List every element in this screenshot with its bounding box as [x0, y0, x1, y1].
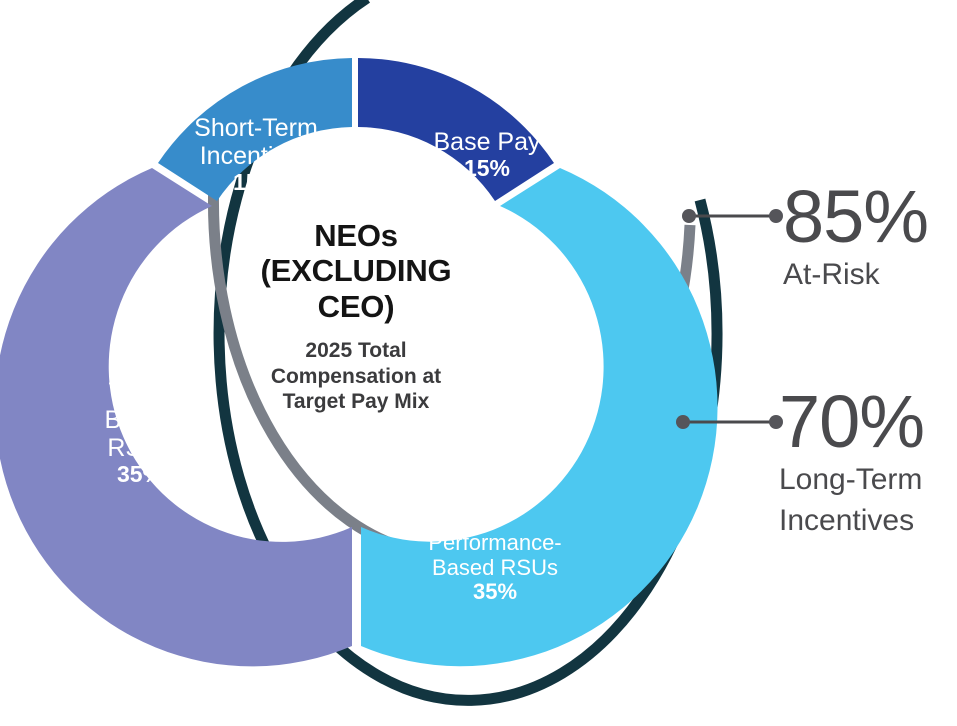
- slice-performance-rsus[interactable]: [361, 168, 718, 666]
- callout-long-term-incentives: 70% Long-Term Incentives: [779, 388, 924, 539]
- callout-long-term-label-line2: Incentives: [779, 503, 924, 538]
- slice-time-rsus[interactable]: [0, 168, 352, 666]
- slice-base-pay[interactable]: [358, 58, 554, 201]
- chart-canvas: Base Pay 15% Short-Term Incentives 15% T…: [0, 0, 957, 726]
- callout-long-term-label-line1: Long-Term: [779, 462, 924, 497]
- callout-at-risk-label: At-Risk: [783, 257, 928, 292]
- donut-chart-svg: [0, 0, 957, 726]
- callout-long-term-value: 70%: [779, 388, 924, 456]
- donut-slices: [0, 58, 718, 666]
- callout-at-risk-value: 85%: [783, 183, 928, 251]
- callout-at-risk: 85% At-Risk: [783, 183, 928, 292]
- slice-short-term-incentives[interactable]: [158, 58, 352, 201]
